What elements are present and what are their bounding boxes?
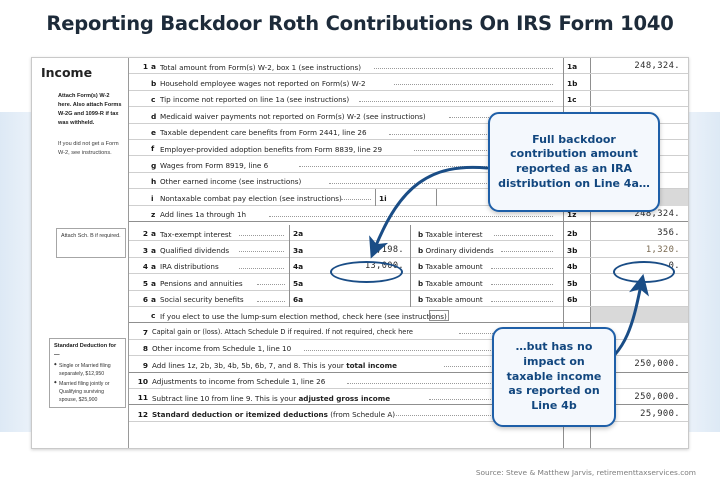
- line-letter: i: [151, 194, 154, 203]
- line-letter: a: [151, 62, 156, 71]
- line-2a-entry-box[interactable]: 2a: [289, 225, 411, 241]
- line-3a-entry-box[interactable]: 3a 1,198.: [289, 241, 411, 257]
- line-description: Other income from Schedule 1, line 10: [152, 344, 291, 353]
- line-letter: c: [151, 311, 155, 320]
- leader-dots: [269, 216, 553, 217]
- attach-forms-note: Attach Form(s) W-2 here. Also attach For…: [58, 92, 124, 128]
- line-1i-entry-box[interactable]: 1i: [375, 189, 437, 205]
- source-attribution: Source: Steve & Matthew Jarvis, retireme…: [476, 468, 696, 477]
- line-description: Capital gain or (loss). Attach Schedule …: [152, 328, 413, 336]
- line-1i-label: 1i: [379, 194, 387, 203]
- line-number: 12: [133, 410, 148, 419]
- schedule-b-note-text: Attach Sch. B if required.: [61, 232, 123, 241]
- lump-sum-checkbox[interactable]: [429, 310, 449, 321]
- leader-dots: [257, 284, 285, 285]
- line-number: 8: [133, 344, 148, 353]
- line-letter: g: [151, 161, 156, 170]
- leader-dots: [239, 235, 284, 236]
- no-w2-note: If you did not get a Form W-2, see instr…: [58, 140, 124, 158]
- leader-dots: [491, 301, 553, 302]
- leader-dots: [239, 268, 284, 269]
- amount-value: 248,324.: [634, 61, 680, 71]
- line-description: Adjustments to income from Schedule 1, l…: [152, 377, 325, 386]
- line-description: IRA distributions: [160, 262, 219, 271]
- line-description: If you elect to use the lump-sum electio…: [160, 312, 447, 321]
- line-number: 10: [133, 377, 148, 386]
- amount-label: 1c: [567, 95, 577, 104]
- amount-label: 1a: [567, 62, 577, 71]
- line-6a-entry-box[interactable]: 6a: [289, 291, 411, 307]
- amount-value: 250,000.: [634, 392, 680, 402]
- line-3a-value: 1,198.: [371, 245, 404, 255]
- line-description: Qualified dividends: [160, 246, 229, 255]
- line-letter: a: [151, 246, 156, 255]
- leader-dots: [491, 268, 553, 269]
- line-number: 9: [133, 361, 148, 370]
- standard-deduction-list: Single or Married filing separately, $12…: [54, 362, 123, 404]
- line-number: 3: [133, 246, 148, 255]
- amount-value: 1,320.: [646, 245, 680, 255]
- line-description: Subtract line 10 from line 9. This is yo…: [152, 394, 390, 403]
- infographic-page: Reporting Backdoor Roth Contributions On…: [0, 0, 720, 489]
- line-description: Pensions and annuities: [160, 279, 243, 288]
- line-6b-description: b Taxable amount: [418, 295, 483, 304]
- line-2b-description: b Taxable interest: [418, 230, 483, 239]
- amount-row[interactable]: 2b 356.: [564, 225, 688, 241]
- income-section-heading: Income: [41, 65, 92, 80]
- leader-dots: [359, 101, 553, 102]
- callout-no-impact: …but has no impact on taxable income as …: [492, 327, 616, 427]
- leader-dots: [494, 235, 553, 236]
- line-description: Taxable dependent care benefits from For…: [160, 128, 367, 137]
- line-letter: a: [151, 279, 156, 288]
- line-4a-label: 4a: [293, 262, 303, 271]
- line-5a-label: 5a: [293, 279, 303, 288]
- amount-row[interactable]: 1c: [564, 91, 688, 107]
- line-number: 4: [133, 262, 148, 271]
- leader-dots: [239, 251, 284, 252]
- line-6a-label: 6a: [293, 295, 303, 304]
- line-description: Tip income not reported on line 1a (see …: [160, 95, 349, 104]
- line-letter: b: [151, 79, 156, 88]
- amount-row: [564, 307, 688, 323]
- amount-value: 250,000.: [634, 359, 680, 369]
- amount-value: 356.: [657, 228, 680, 238]
- line-description: Wages from Form 8919, line 6: [160, 161, 268, 170]
- amount-row[interactable]: 1a 248,324.: [564, 58, 688, 74]
- circle-line-4b-value: [613, 261, 675, 283]
- line-description: Employer-provided adoption benefits from…: [160, 145, 382, 154]
- line-letter: h: [151, 177, 156, 186]
- amount-label: 4b: [567, 262, 577, 271]
- standard-deduction-box: Standard Deduction for — Single or Marri…: [49, 338, 126, 408]
- circle-line-4a-value: [330, 261, 403, 283]
- amount-label: 3b: [567, 246, 577, 255]
- line-letter: e: [151, 128, 156, 137]
- line-4b-description: b Taxable amount: [418, 262, 483, 271]
- amount-row[interactable]: 6b: [564, 291, 688, 307]
- amount-label: 2b: [567, 229, 577, 238]
- form-left-column: Income Attach Form(s) W-2 here. Also att…: [32, 58, 129, 448]
- amount-label: 6b: [567, 295, 577, 304]
- line-number: 1: [133, 62, 148, 71]
- line-letter: d: [151, 112, 156, 121]
- leader-dots: [491, 284, 553, 285]
- line-3a-label: 3a: [293, 246, 303, 255]
- list-item: Married filing jointly or Qualifying sur…: [54, 380, 123, 404]
- standard-deduction-content: Standard Deduction for — Single or Marri…: [54, 342, 123, 406]
- line-5b-description: b Taxable amount: [418, 279, 483, 288]
- amount-label: 1b: [567, 79, 577, 88]
- line-number: 11: [133, 393, 148, 402]
- callout-text: …but has no impact on taxable income as …: [494, 340, 614, 413]
- line-description: Nontaxable combat pay election (see inst…: [160, 194, 342, 203]
- line-3b-description: b Ordinary dividends: [418, 246, 494, 255]
- callout-text: Full backdoor contribution amount report…: [490, 133, 658, 192]
- line-letter: a: [151, 262, 156, 271]
- line-description: Add lines 1a through 1h: [160, 210, 246, 219]
- line-description: Total amount from Form(s) W-2, box 1 (se…: [160, 63, 361, 72]
- line-letter: z: [151, 210, 155, 219]
- line-letter: a: [151, 229, 156, 238]
- line-letter: f: [151, 144, 154, 153]
- list-item: Single or Married filing separately, $12…: [54, 362, 123, 378]
- leader-dots: [501, 251, 553, 252]
- leader-dots: [374, 68, 553, 69]
- amount-row[interactable]: 1b: [564, 74, 688, 90]
- line-number: 2: [133, 229, 148, 238]
- amount-row[interactable]: 3b 1,320.: [564, 241, 688, 257]
- leader-dots: [394, 84, 553, 85]
- amount-label: 5b: [567, 279, 577, 288]
- line-2a-label: 2a: [293, 229, 303, 238]
- leader-dots: [257, 301, 285, 302]
- line-number: 7: [133, 328, 148, 337]
- schedule-b-note-box: Attach Sch. B if required.: [56, 228, 126, 258]
- line-description: Other earned income (see instructions): [160, 177, 301, 186]
- amount-value: 25,900.: [640, 409, 680, 419]
- line-number: 6: [133, 295, 148, 304]
- callout-backdoor-contribution: Full backdoor contribution amount report…: [488, 112, 660, 212]
- line-description: Tax-exempt interest: [160, 230, 231, 239]
- line-letter: c: [151, 95, 155, 104]
- line-number: 5: [133, 279, 148, 288]
- line-letter: a: [151, 295, 156, 304]
- line-description: Household employee wages not reported on…: [160, 79, 366, 88]
- line-description: Add lines 1z, 2b, 3b, 4b, 5b, 6b, 7, and…: [152, 361, 397, 370]
- line-description: Standard deduction or itemized deduction…: [152, 410, 395, 419]
- standard-deduction-heading: Standard Deduction for —: [54, 342, 123, 360]
- shaded-cell: [591, 307, 688, 323]
- leader-dots: [341, 199, 371, 200]
- line-description: Social security benefits: [160, 295, 244, 304]
- line-description: Medicaid waiver payments not reported on…: [160, 112, 426, 121]
- page-title: Reporting Backdoor Roth Contributions On…: [0, 12, 720, 35]
